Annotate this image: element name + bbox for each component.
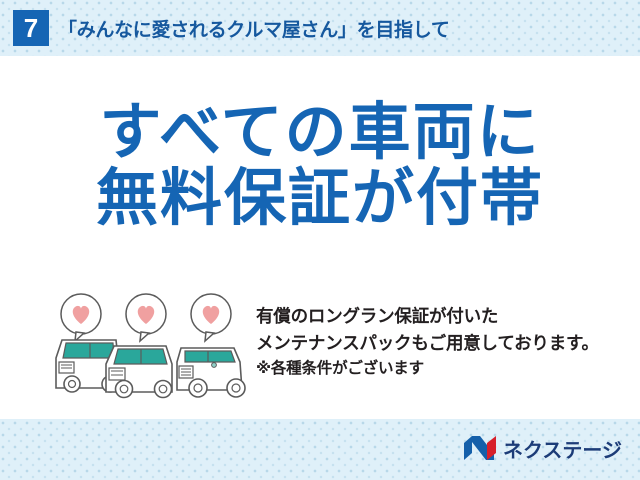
body-copy-line-3: ※各種条件がございます (256, 357, 636, 382)
n-mark-icon (463, 435, 497, 461)
body-copy-line-1: 有償のロングラン保証が付いた (256, 303, 636, 330)
body-copy: 有償のロングラン保証が付いた メンテナンスパックもご用意しております。 ※各種条… (256, 303, 636, 382)
suv-window (185, 351, 235, 362)
nextage-logo: ネクステージ (463, 433, 622, 463)
bubble-tail-2 (140, 332, 149, 341)
car-minivan (106, 346, 172, 398)
bubble-tail-3 (205, 332, 214, 341)
lower-row: 有償のロングラン保証が付いた メンテナンスパックもご用意しております。 ※各種条… (0, 292, 640, 419)
content-panel: すべての車両に 無料保証が付帯 (0, 56, 640, 419)
headline-line-2: 無料保証が付帯 (0, 166, 640, 232)
body-copy-line-2: メンテナンスパックもご用意しております。 (256, 330, 636, 357)
slide-footer: ネクステージ (0, 419, 640, 480)
brand-name: ネクステージ (503, 434, 622, 463)
headline: すべての車両に 無料保証が付帯 (0, 100, 640, 231)
header-title: 「みんなに愛されるクルマ屋さん」を目指して (58, 15, 450, 42)
car-suv (177, 348, 245, 397)
headline-line-1: すべての車両に (0, 100, 640, 166)
car-illustration (48, 292, 248, 410)
slide-header: 7 「みんなに愛されるクルマ屋さん」を目指して (0, 0, 640, 56)
kei-van-window (63, 343, 114, 358)
three-cars-with-heart-bubbles-svg (48, 292, 248, 410)
promo-slide: 7 「みんなに愛されるクルマ屋さん」を目指して すべての車両に 無料保証が付帯 (0, 0, 640, 480)
section-number-badge: 7 (13, 10, 49, 46)
